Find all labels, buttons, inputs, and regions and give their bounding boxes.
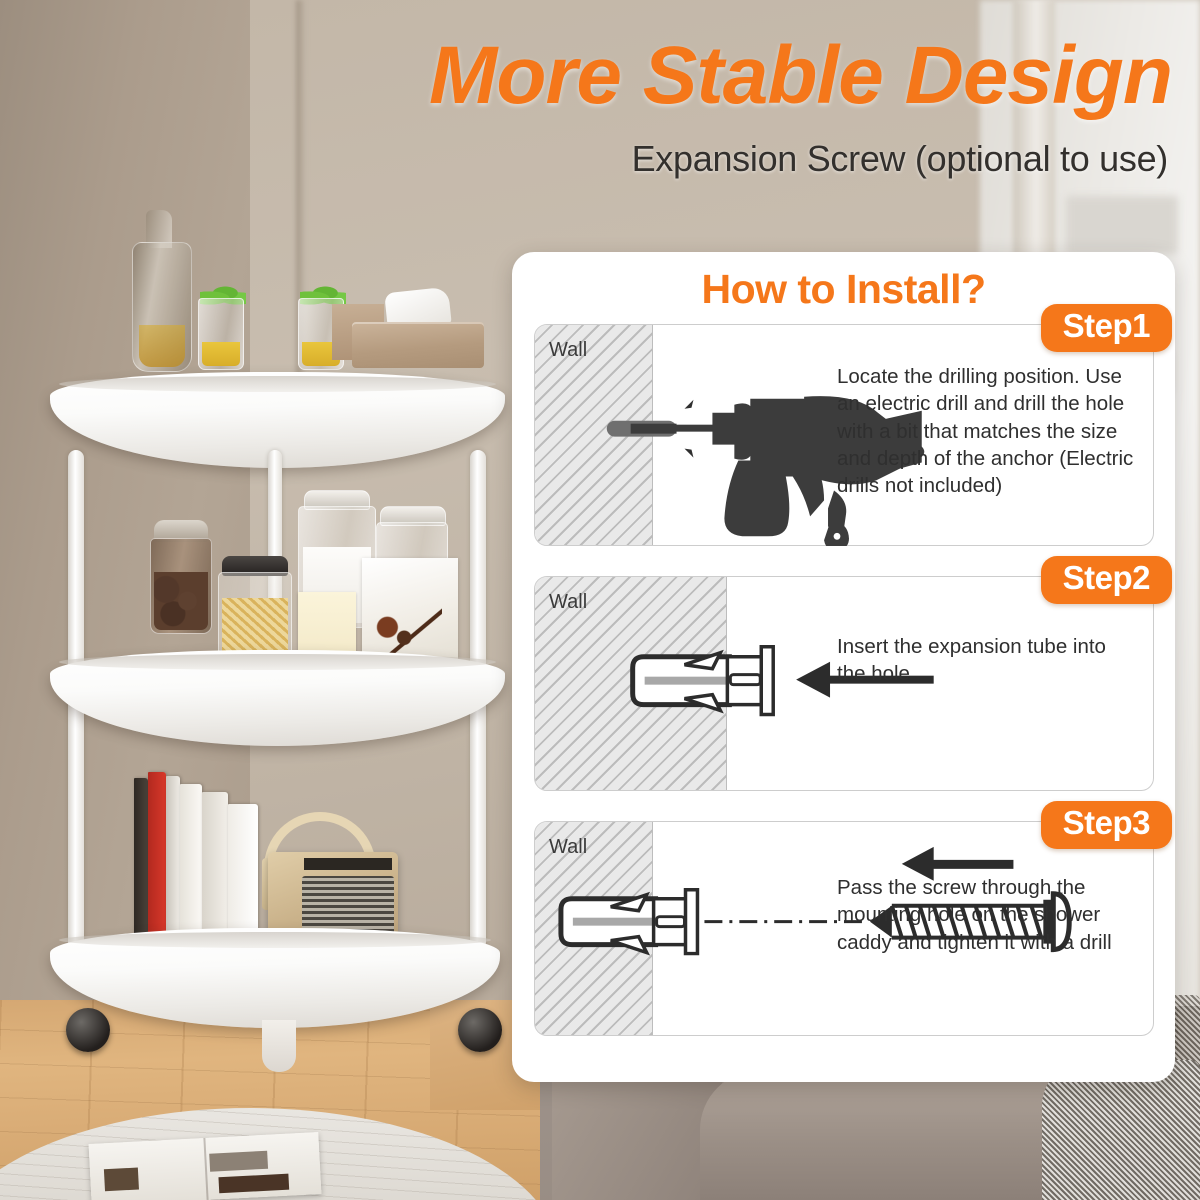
headline-block: More Stable Design Expansion Screw (opti… xyxy=(0,34,1186,180)
shelf-lip xyxy=(59,376,496,392)
install-step-card: Wall xyxy=(534,324,1154,546)
background-shelf-upper xyxy=(1066,196,1178,254)
shelf-lip xyxy=(59,654,496,670)
magazine-photo xyxy=(218,1174,289,1194)
chocolate-ball-jar xyxy=(150,538,212,634)
magazine-photo xyxy=(104,1168,139,1192)
install-steps-list: Wall xyxy=(534,324,1154,1066)
shelf-lip xyxy=(59,932,491,948)
corner-storage-cart xyxy=(50,360,520,1080)
lemon-water-tumbler xyxy=(198,298,244,370)
caster-wheel-left xyxy=(66,1008,110,1052)
step-description: Locate the drilling position. Use an ele… xyxy=(837,363,1137,499)
step-badge: Step1 xyxy=(1041,304,1172,352)
snack-pouch-graphic xyxy=(372,608,442,656)
cart-center-foot xyxy=(262,1020,296,1072)
install-step-card: Wall Step2 Insert the expansion tube int… xyxy=(534,576,1154,791)
kraft-paper-box xyxy=(352,322,484,368)
radio-knobs xyxy=(304,858,392,870)
glass-carafe xyxy=(132,242,192,372)
step-description: Insert the expansion tube into the hole xyxy=(837,633,1137,688)
cart-shelf-middle xyxy=(50,650,505,746)
step-description: Pass the screw through the mounting hole… xyxy=(837,874,1137,956)
magazine-photo xyxy=(209,1151,268,1172)
install-step-card: Wall xyxy=(534,821,1154,1036)
open-magazine xyxy=(89,1132,322,1200)
page-subtitle: Expansion Screw (optional to use) xyxy=(0,138,1186,180)
step-badge: Step3 xyxy=(1041,801,1172,849)
how-to-install-panel: How to Install? Wall xyxy=(512,252,1175,1082)
step-badge: Step2 xyxy=(1041,556,1172,604)
caster-wheel-right xyxy=(458,1008,502,1052)
page-title: More Stable Design xyxy=(0,34,1186,118)
cart-shelf-bottom xyxy=(50,928,500,1028)
